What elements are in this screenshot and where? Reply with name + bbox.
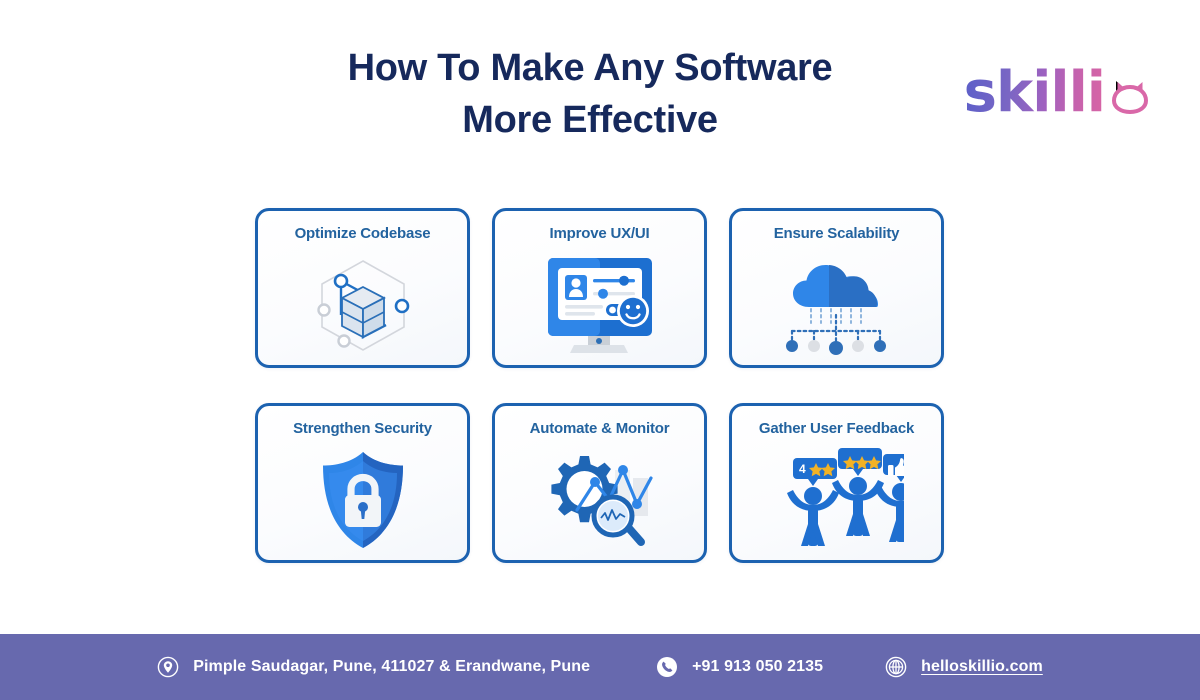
phone-icon (656, 656, 678, 678)
header: How To Make Any Software More Effective … (0, 0, 1200, 170)
people-rating-bubbles-icon: 4 (732, 446, 941, 554)
footer-address-text: Pimple Saudagar, Pune, 411027 & Erandwan… (193, 658, 590, 676)
footer-phone-text: +91 913 050 2135 (692, 658, 823, 676)
footer-contact-bar: Pimple Saudagar, Pune, 411027 & Erandwan… (0, 634, 1200, 700)
card-optimize-codebase[interactable]: Optimize Codebase (255, 208, 470, 368)
isometric-cube-network-icon (258, 251, 467, 359)
card-gather-user-feedback[interactable]: Gather User Feedback 4 (729, 403, 944, 563)
brand-logo[interactable]: skilli (964, 62, 1152, 124)
feature-card-grid: Optimize Codebase (255, 208, 945, 563)
card-strengthen-security[interactable]: Strengthen Security (255, 403, 470, 563)
footer-website-text[interactable]: helloskillio.com (921, 658, 1043, 676)
card-ensure-scalability[interactable]: Ensure Scalability (729, 208, 944, 368)
page-title-line-1: How To Make Any Software (230, 42, 950, 94)
card-improve-ux-ui[interactable]: Improve UX/UI (492, 208, 707, 368)
page-title-line-2: More Effective (230, 94, 950, 146)
card-title: Gather User Feedback (732, 420, 941, 437)
cloud-nodes-icon (732, 251, 941, 359)
card-automate-monitor[interactable]: Automate & Monitor (492, 403, 707, 563)
cat-face-o-icon (1108, 75, 1152, 122)
page-title: How To Make Any Software More Effective (230, 42, 950, 146)
brand-logo-text: skilli (964, 65, 1105, 121)
card-title: Automate & Monitor (495, 420, 704, 437)
svg-text:4: 4 (799, 462, 806, 476)
location-pin-icon (157, 656, 179, 678)
gear-chart-magnifier-icon (495, 446, 704, 554)
globe-icon (885, 656, 907, 678)
footer-address: Pimple Saudagar, Pune, 411027 & Erandwan… (157, 656, 590, 678)
card-title: Strengthen Security (258, 420, 467, 437)
shield-lock-icon (258, 446, 467, 554)
footer-website[interactable]: helloskillio.com (885, 656, 1043, 678)
desktop-monitor-ui-icon (495, 251, 704, 359)
card-title: Improve UX/UI (495, 225, 704, 242)
card-title: Ensure Scalability (732, 225, 941, 242)
card-title: Optimize Codebase (258, 225, 467, 242)
footer-phone[interactable]: +91 913 050 2135 (656, 656, 823, 678)
